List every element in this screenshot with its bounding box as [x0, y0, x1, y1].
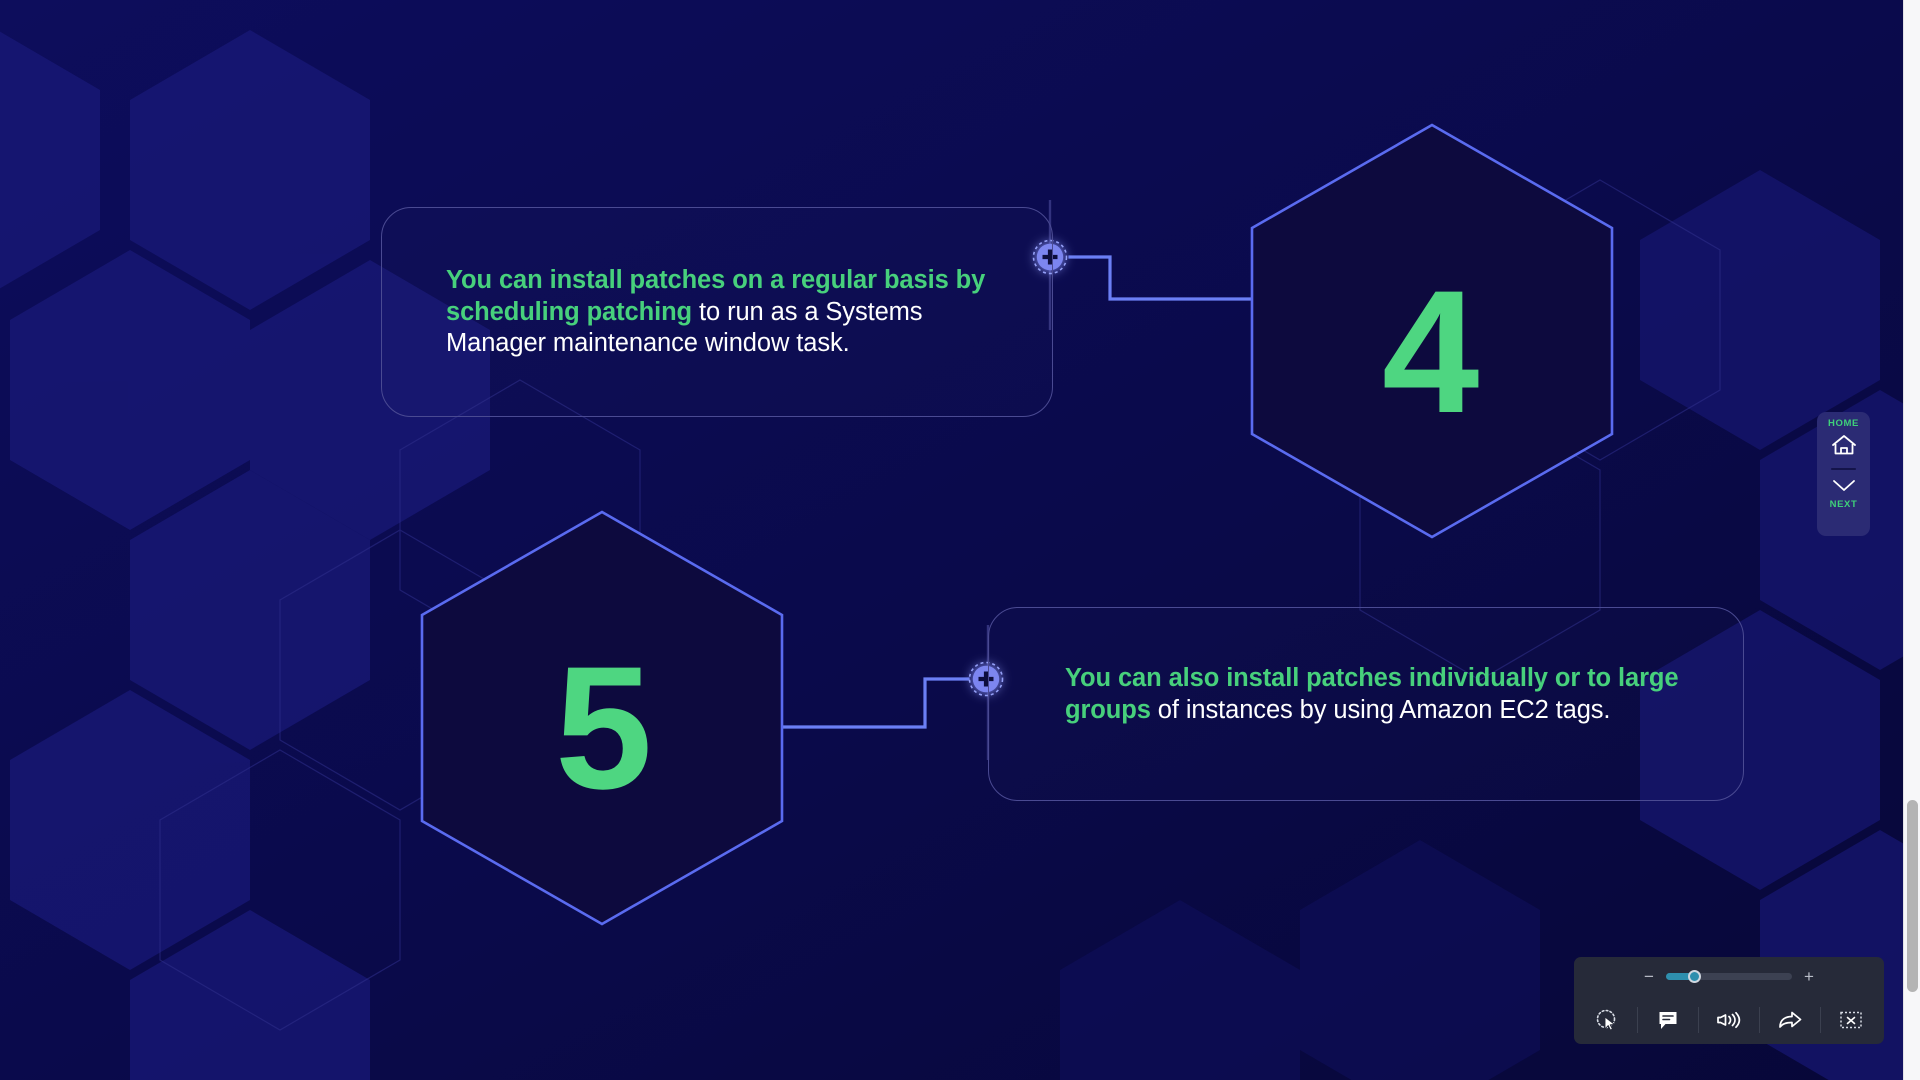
- zoom-control-row: − +: [1574, 957, 1884, 995]
- zoom-out-button[interactable]: −: [1642, 968, 1656, 985]
- toolbar-separator: [1759, 1007, 1760, 1033]
- zoom-in-button[interactable]: +: [1802, 968, 1816, 985]
- diagram-layer: [0, 0, 1920, 1080]
- home-label: HOME: [1828, 419, 1859, 429]
- page-scrollbar[interactable]: [1903, 0, 1920, 1080]
- toolbar-icon-row: [1574, 995, 1884, 1044]
- toolbar-separator: [1698, 1007, 1699, 1033]
- player-toolbar: − +: [1574, 957, 1884, 1044]
- connector-step-4: [1050, 200, 1255, 330]
- connector-step-5: [782, 625, 988, 760]
- text-card-step-5-body: You can also install patches individuall…: [1065, 663, 1715, 726]
- toolbar-separator: [1637, 1007, 1638, 1033]
- zoom-slider-handle[interactable]: [1688, 970, 1701, 983]
- nav-divider: [1831, 468, 1856, 471]
- text-card-step-5: You can also install patches individuall…: [988, 607, 1744, 801]
- slide-canvas: 4 5 You can install patches on a regular…: [0, 0, 1920, 1080]
- body-text: of instances by using Amazon EC2 tags.: [1151, 696, 1611, 724]
- hexagon-number-4: 4: [1382, 265, 1476, 440]
- cursor-select-icon[interactable]: [1587, 1003, 1627, 1037]
- text-card-step-4-body: You can install patches on a regular bas…: [446, 265, 1006, 360]
- scrollbar-thumb[interactable]: [1907, 800, 1918, 992]
- text-card-step-4: You can install patches on a regular bas…: [381, 207, 1053, 417]
- share-icon[interactable]: [1770, 1003, 1810, 1037]
- next-label: NEXT: [1830, 500, 1858, 510]
- close-icon[interactable]: [1831, 1003, 1871, 1037]
- hexagon-number-5: 5: [555, 641, 649, 816]
- home-icon[interactable]: [1830, 433, 1858, 462]
- chevron-down-icon[interactable]: [1830, 477, 1858, 498]
- zoom-slider[interactable]: [1666, 973, 1792, 980]
- volume-icon[interactable]: [1709, 1003, 1749, 1037]
- comment-icon[interactable]: [1648, 1003, 1688, 1037]
- toolbar-separator: [1820, 1007, 1821, 1033]
- navigation-panel: HOME NEXT: [1817, 412, 1870, 536]
